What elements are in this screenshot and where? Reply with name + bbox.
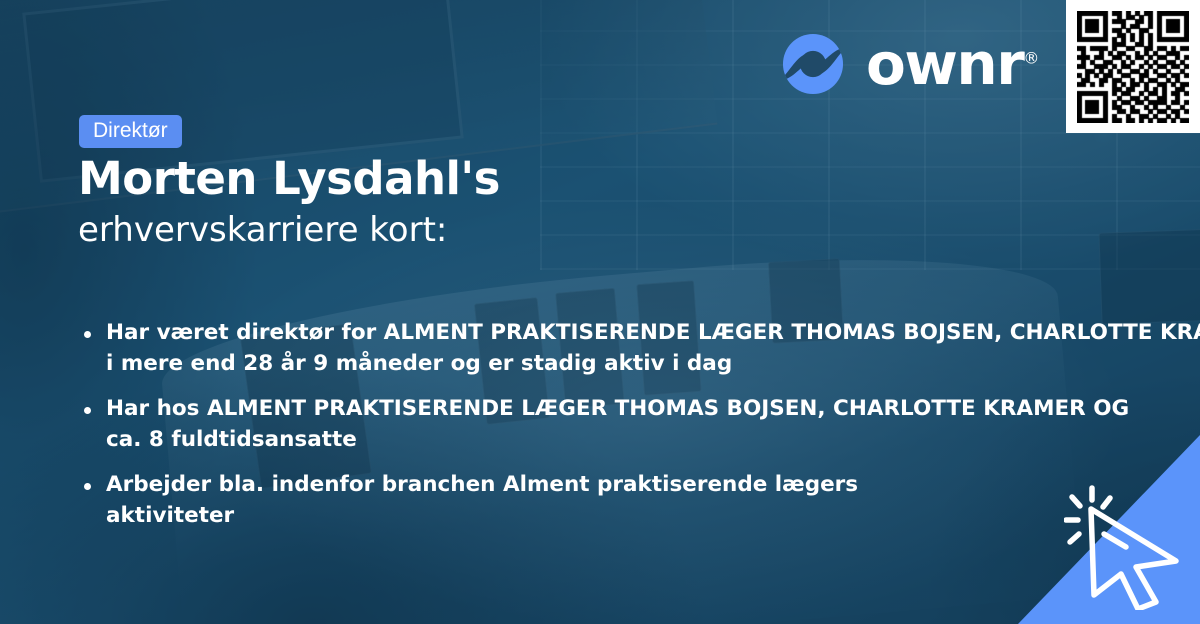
list-item-line-2: i mere end 28 år 9 måneder og er stadig … [106, 349, 1200, 380]
list-item-line-2: aktiviteter [106, 501, 1200, 532]
ownr-wordmark: ownr® [866, 35, 1039, 93]
page-title: Morten Lysdahl's [78, 156, 500, 201]
list-item-line-1: Har været direktør for ALMENT PRAKTISERE… [106, 320, 1200, 345]
role-badge: Direktør [79, 115, 182, 148]
list-item-line-1: Har hos ALMENT PRAKTISERENDE LÆGER THOMA… [106, 396, 1129, 421]
registered-mark: ® [1023, 49, 1039, 68]
promo-card: ownr® Direktør Morten Lysdahl's erhvervs… [0, 0, 1200, 624]
list-item: Arbejder bla. indenfor branchen Alment p… [80, 470, 1200, 531]
career-facts-list: Har været direktør for ALMENT PRAKTISERE… [80, 318, 1200, 546]
qr-code-panel[interactable] [1066, 0, 1200, 133]
logo-name-text: ownr [866, 30, 1023, 98]
list-item: Har hos ALMENT PRAKTISERENDE LÆGER THOMA… [80, 394, 1200, 455]
qr-code-image [1077, 11, 1189, 123]
list-item-line-2: ca. 8 fuldtidsansatte [106, 425, 1200, 456]
list-item-line-1: Arbejder bla. indenfor branchen Alment p… [106, 472, 858, 497]
list-item: Har været direktør for ALMENT PRAKTISERE… [80, 318, 1200, 379]
page-subtitle: erhvervskarriere kort: [78, 212, 447, 249]
ownr-logo[interactable]: ownr® [782, 33, 1039, 95]
ownr-circle-swoosh-icon [782, 33, 844, 95]
